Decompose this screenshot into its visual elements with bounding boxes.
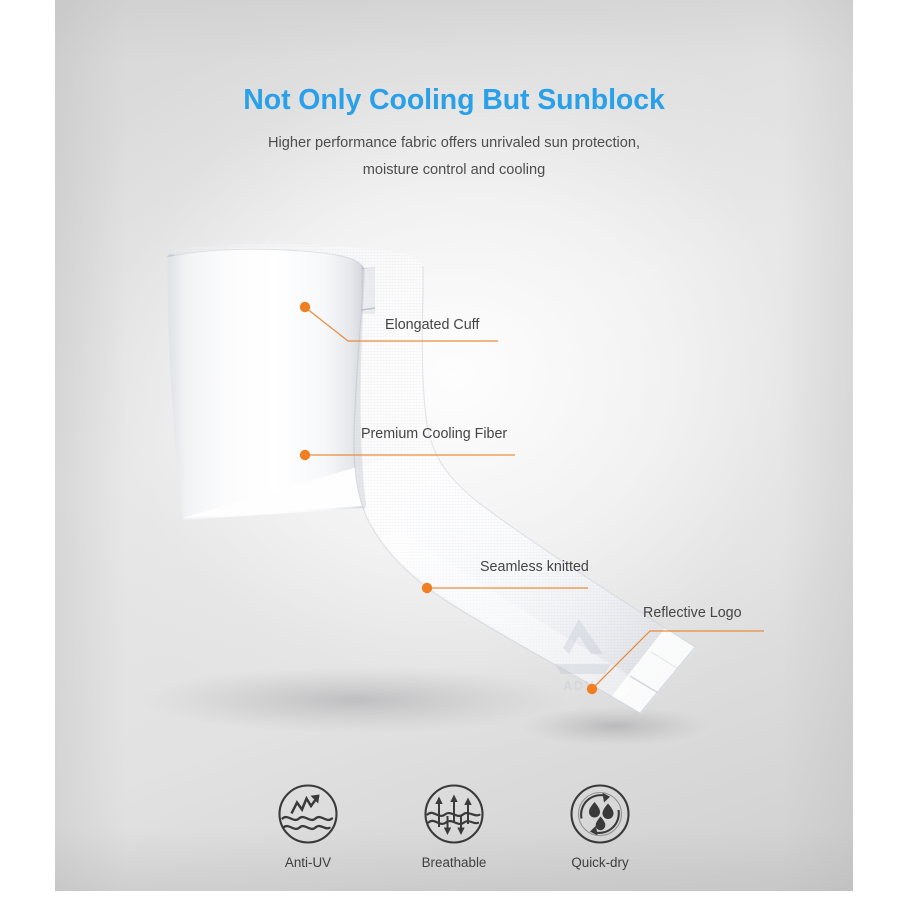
uv-waves-icon bbox=[277, 783, 339, 845]
airflow-waves-icon bbox=[423, 783, 485, 845]
page-subtitle-line-2: moisture control and cooling bbox=[55, 157, 853, 184]
page-subtitle: Higher performance fabric offers unrival… bbox=[55, 130, 853, 184]
callout-label-reflective-logo: Reflective Logo bbox=[643, 605, 742, 621]
page-title: Not Only Cooling But Sunblock bbox=[55, 84, 853, 117]
callout-label-seamless-knitted: Seamless knitted bbox=[480, 559, 589, 575]
feature-breathable: Breathable bbox=[402, 783, 506, 870]
product-shadow bbox=[140, 666, 570, 734]
feature-label-breathable: Breathable bbox=[422, 855, 487, 870]
feature-anti-uv: Anti-UV bbox=[256, 783, 360, 870]
product-shadow-wrist bbox=[520, 706, 710, 746]
content-panel: Not Only Cooling But Sunblock Higher per… bbox=[55, 0, 853, 891]
droplets-cycle-icon bbox=[569, 783, 631, 845]
callout-label-elongated-cuff: Elongated Cuff bbox=[385, 317, 479, 333]
feature-quick-dry: Quick-dry bbox=[548, 783, 652, 870]
page-subtitle-line-1: Higher performance fabric offers unrival… bbox=[55, 130, 853, 157]
feature-label-anti-uv: Anti-UV bbox=[285, 855, 331, 870]
infographic-page: Not Only Cooling But Sunblock Higher per… bbox=[0, 0, 908, 908]
feature-icon-row: Anti-UV bbox=[55, 783, 853, 870]
feature-label-quick-dry: Quick-dry bbox=[571, 855, 628, 870]
callout-label-cooling-fiber: Premium Cooling Fiber bbox=[361, 426, 507, 442]
svg-text:ADV: ADV bbox=[563, 678, 595, 693]
